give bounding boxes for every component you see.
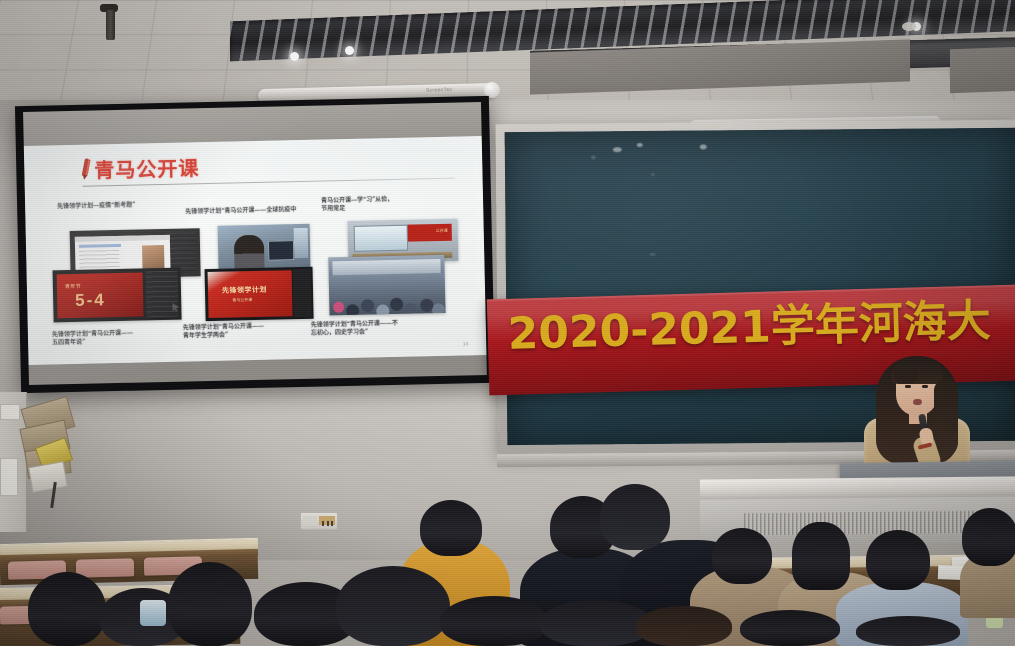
slide-image-red-banner-slide: 先锋领学计划 青马公开课	[205, 267, 314, 321]
student-blue-shirt-head	[866, 530, 930, 590]
slide-caption-bottom-3: 先锋领学计划“青马公开课——不 忘初心，四史学习会”	[311, 319, 441, 338]
pencil-icon	[80, 159, 91, 181]
power-outlet-panel[interactable]	[300, 512, 338, 530]
speaker-fringe	[894, 366, 918, 384]
student-head	[28, 572, 106, 646]
student-head-long-hair	[792, 522, 850, 590]
stacked-chairs	[22, 398, 82, 508]
speaker-hair-side	[934, 380, 958, 458]
projection-screen-surface: 青马公开课 先锋领学计划—疫情“新考题” 先锋领学计划“青马公开课——全球抗疫中…	[23, 102, 487, 385]
sprinkler-stem	[106, 10, 115, 40]
lectern-vent-grille	[744, 511, 988, 536]
slide-title-group: 青马公开课	[80, 156, 199, 181]
cabinet-label	[0, 458, 18, 496]
seat-back	[76, 558, 134, 577]
speaker-mouth	[913, 399, 922, 405]
lecture-hall-photo: ScreenTec 青马公开课 先锋领学计划—疫情“新考题” 先锋领学计划“青马…	[0, 0, 1015, 646]
student-head	[600, 484, 670, 550]
outlet-left	[303, 516, 317, 525]
slide-image-red-poster: 青年节 5-4	[53, 268, 182, 323]
slide-caption-top-2: 先锋领学计划“青马公开课——全球抗疫中	[185, 205, 330, 216]
slide-caption-top-3: 青马公开课—学“习”从俭， 节用常足	[321, 195, 451, 214]
student-head	[962, 508, 1015, 566]
slide-caption-bottom-2: 先锋领学计划“青马公开课—— 青年学生学两会”	[183, 322, 301, 341]
student-head	[168, 562, 252, 646]
poster-sub-label: 青年节	[65, 283, 81, 290]
banner-slide-sub: 青马公开课	[232, 297, 252, 303]
banner-slide-label: 先锋领学计划	[222, 285, 267, 296]
poster-big-label: 5-4	[75, 291, 106, 309]
student-head	[740, 610, 840, 646]
student-head	[856, 616, 960, 646]
student-head	[440, 596, 548, 646]
slide-image-assembly-crowd	[328, 255, 445, 316]
cabinet-label	[0, 404, 20, 420]
speaker-eye-left	[905, 385, 911, 388]
speaker-eye-right	[922, 385, 928, 388]
smoke-detector-icon	[902, 22, 916, 31]
event-banner-text: 2020-2021学年河海大	[507, 299, 991, 356]
slide-page-number: 14	[463, 341, 469, 347]
student-head	[636, 606, 732, 646]
ceiling-panel	[950, 47, 1015, 93]
slide-title: 青马公开课	[94, 158, 199, 180]
ceiling-light	[345, 46, 354, 55]
student-head	[336, 566, 450, 646]
student-head	[540, 600, 652, 646]
classroom-banner-label: 公开课	[436, 228, 448, 234]
outlet-right	[319, 516, 335, 525]
presentation-slide: 青马公开课 先锋领学计划—疫情“新考题” 先锋领学计划“青马公开课——全球抗疫中…	[24, 136, 487, 365]
student-yellow-shirt-head	[420, 500, 482, 556]
roller-brand-label: ScreenTec	[426, 87, 452, 94]
projection-screen[interactable]: 青马公开课 先锋领学计划—疫情“新考题” 先锋领学计划“青马公开课——全球抗疫中…	[15, 96, 495, 393]
slide-caption-bottom-1: 先锋领学计划“青马公开课—— 五四青年说”	[52, 329, 162, 348]
student-tan-jacket-head	[712, 528, 772, 584]
blue-cup	[140, 600, 166, 626]
ceiling-light	[290, 52, 299, 61]
stacked-chair-white	[28, 461, 68, 493]
